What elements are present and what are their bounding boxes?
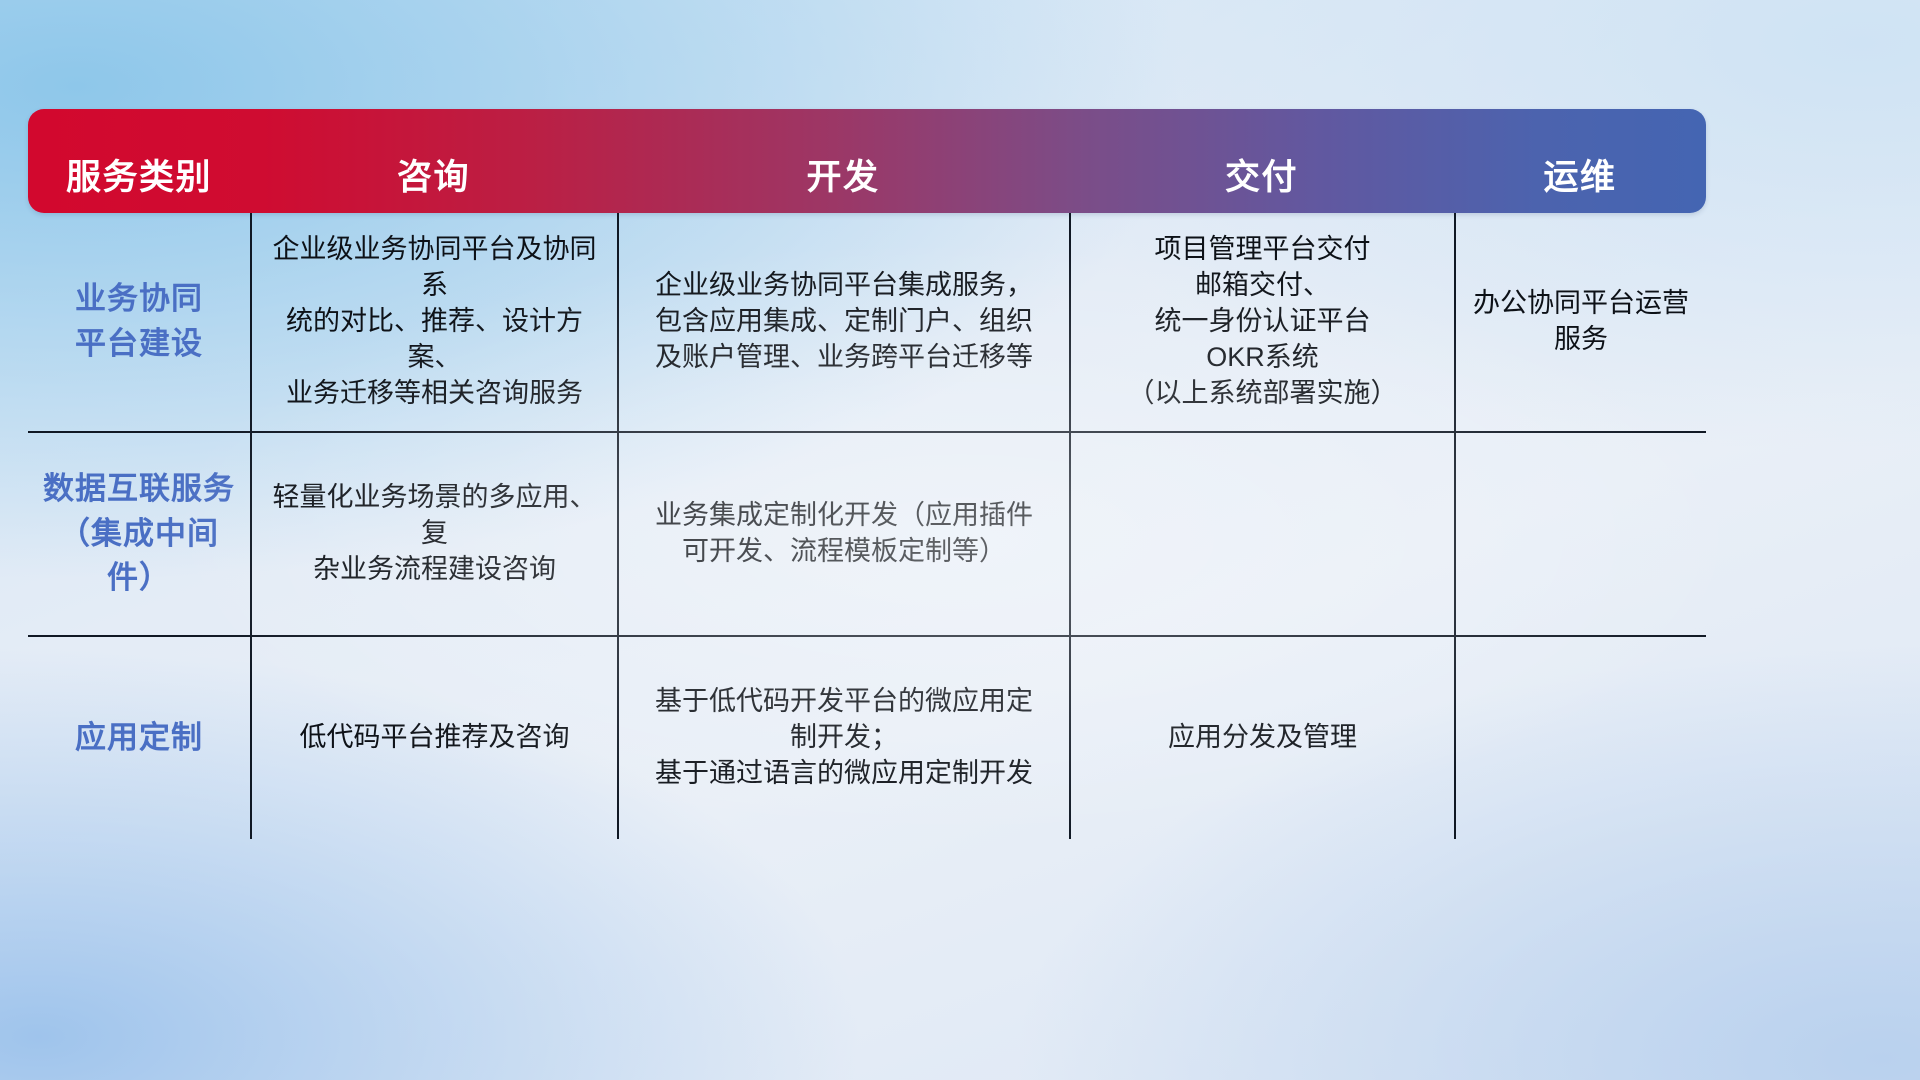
cell-delivery: 应用分发及管理	[1069, 637, 1454, 839]
cell-consulting: 低代码平台推荐及咨询	[250, 637, 617, 839]
table-header-row: 服务类别 咨询 开发 交付 运维	[28, 109, 1706, 213]
column-header-category: 服务类别	[28, 159, 250, 214]
service-matrix-table: 服务类别 咨询 开发 交付 运维 业务协同 平台建设 企业级业务协同平台及协同系…	[28, 109, 1706, 959]
cell-operations: 办公协同平台运营服务	[1454, 213, 1706, 431]
slide-canvas: 服务类别 咨询 开发 交付 运维 业务协同 平台建设 企业级业务协同平台及协同系…	[0, 0, 1920, 1080]
table-row: 应用定制 低代码平台推荐及咨询 基于低代码开发平台的微应用定 制开发； 基于通过…	[28, 635, 1706, 839]
column-header-consulting: 咨询	[250, 159, 617, 214]
column-header-delivery: 交付	[1069, 159, 1454, 214]
cell-development: 基于低代码开发平台的微应用定 制开发； 基于通过语言的微应用定制开发	[617, 637, 1069, 839]
cell-consulting: 轻量化业务场景的多应用、复 杂业务流程建设咨询	[250, 433, 617, 635]
column-header-operations: 运维	[1454, 159, 1706, 214]
cell-delivery: 项目管理平台交付 邮箱交付、 统一身份认证平台 OKR系统 （以上系统部署实施）	[1069, 213, 1454, 431]
row-category-label: 业务协同 平台建设	[28, 213, 250, 431]
table-row: 业务协同 平台建设 企业级业务协同平台及协同系 统的对比、推荐、设计方案、 业务…	[28, 213, 1706, 431]
table-row: 数据互联服务 （集成中间件） 轻量化业务场景的多应用、复 杂业务流程建设咨询 业…	[28, 431, 1706, 635]
row-category-label: 数据互联服务 （集成中间件）	[28, 433, 250, 635]
column-header-development: 开发	[617, 159, 1069, 214]
cell-development: 业务集成定制化开发（应用插件 可开发、流程模板定制等）	[617, 433, 1069, 635]
cell-consulting: 企业级业务协同平台及协同系 统的对比、推荐、设计方案、 业务迁移等相关咨询服务	[250, 213, 617, 431]
table-body: 业务协同 平台建设 企业级业务协同平台及协同系 统的对比、推荐、设计方案、 业务…	[28, 213, 1706, 839]
cell-operations	[1454, 433, 1706, 635]
cell-delivery	[1069, 433, 1454, 635]
cell-operations	[1454, 637, 1706, 839]
cell-development: 企业级业务协同平台集成服务， 包含应用集成、定制门户、组织 及账户管理、业务跨平…	[617, 213, 1069, 431]
row-category-label: 应用定制	[28, 637, 250, 839]
